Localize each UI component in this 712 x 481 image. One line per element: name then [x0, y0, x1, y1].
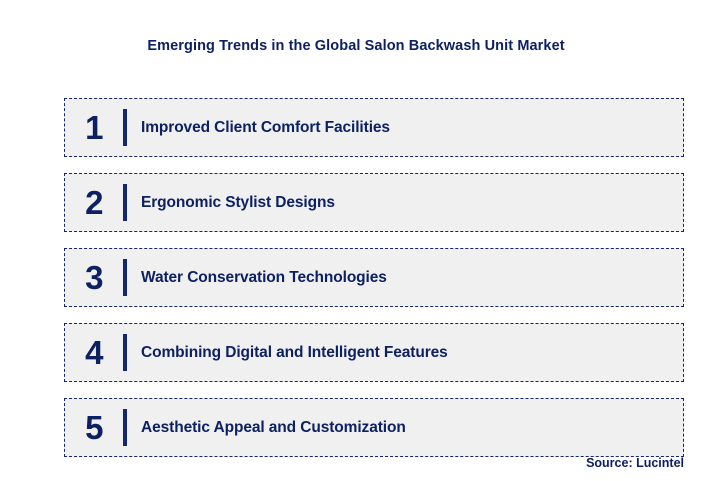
- list-item: 3 Water Conservation Technologies: [64, 248, 684, 307]
- source-label: Source: Lucintel: [586, 456, 684, 470]
- infographic-canvas: Emerging Trends in the Global Salon Back…: [0, 0, 712, 481]
- list-item: 4 Combining Digital and Intelligent Feat…: [64, 323, 684, 382]
- trend-number: 2: [65, 186, 123, 219]
- trend-number: 1: [65, 111, 123, 144]
- trend-label: Combining Digital and Intelligent Featur…: [127, 344, 683, 362]
- trend-list: 1 Improved Client Comfort Facilities 2 E…: [64, 98, 684, 457]
- trend-label: Ergonomic Stylist Designs: [127, 194, 683, 212]
- trend-number: 3: [65, 261, 123, 294]
- trend-number: 4: [65, 336, 123, 369]
- list-item: 1 Improved Client Comfort Facilities: [64, 98, 684, 157]
- trend-label: Aesthetic Appeal and Customization: [127, 419, 683, 437]
- list-item: 5 Aesthetic Appeal and Customization: [64, 398, 684, 457]
- page-title: Emerging Trends in the Global Salon Back…: [0, 38, 712, 54]
- trend-number: 5: [65, 411, 123, 444]
- trend-label: Improved Client Comfort Facilities: [127, 119, 683, 137]
- trend-label: Water Conservation Technologies: [127, 269, 683, 287]
- list-item: 2 Ergonomic Stylist Designs: [64, 173, 684, 232]
